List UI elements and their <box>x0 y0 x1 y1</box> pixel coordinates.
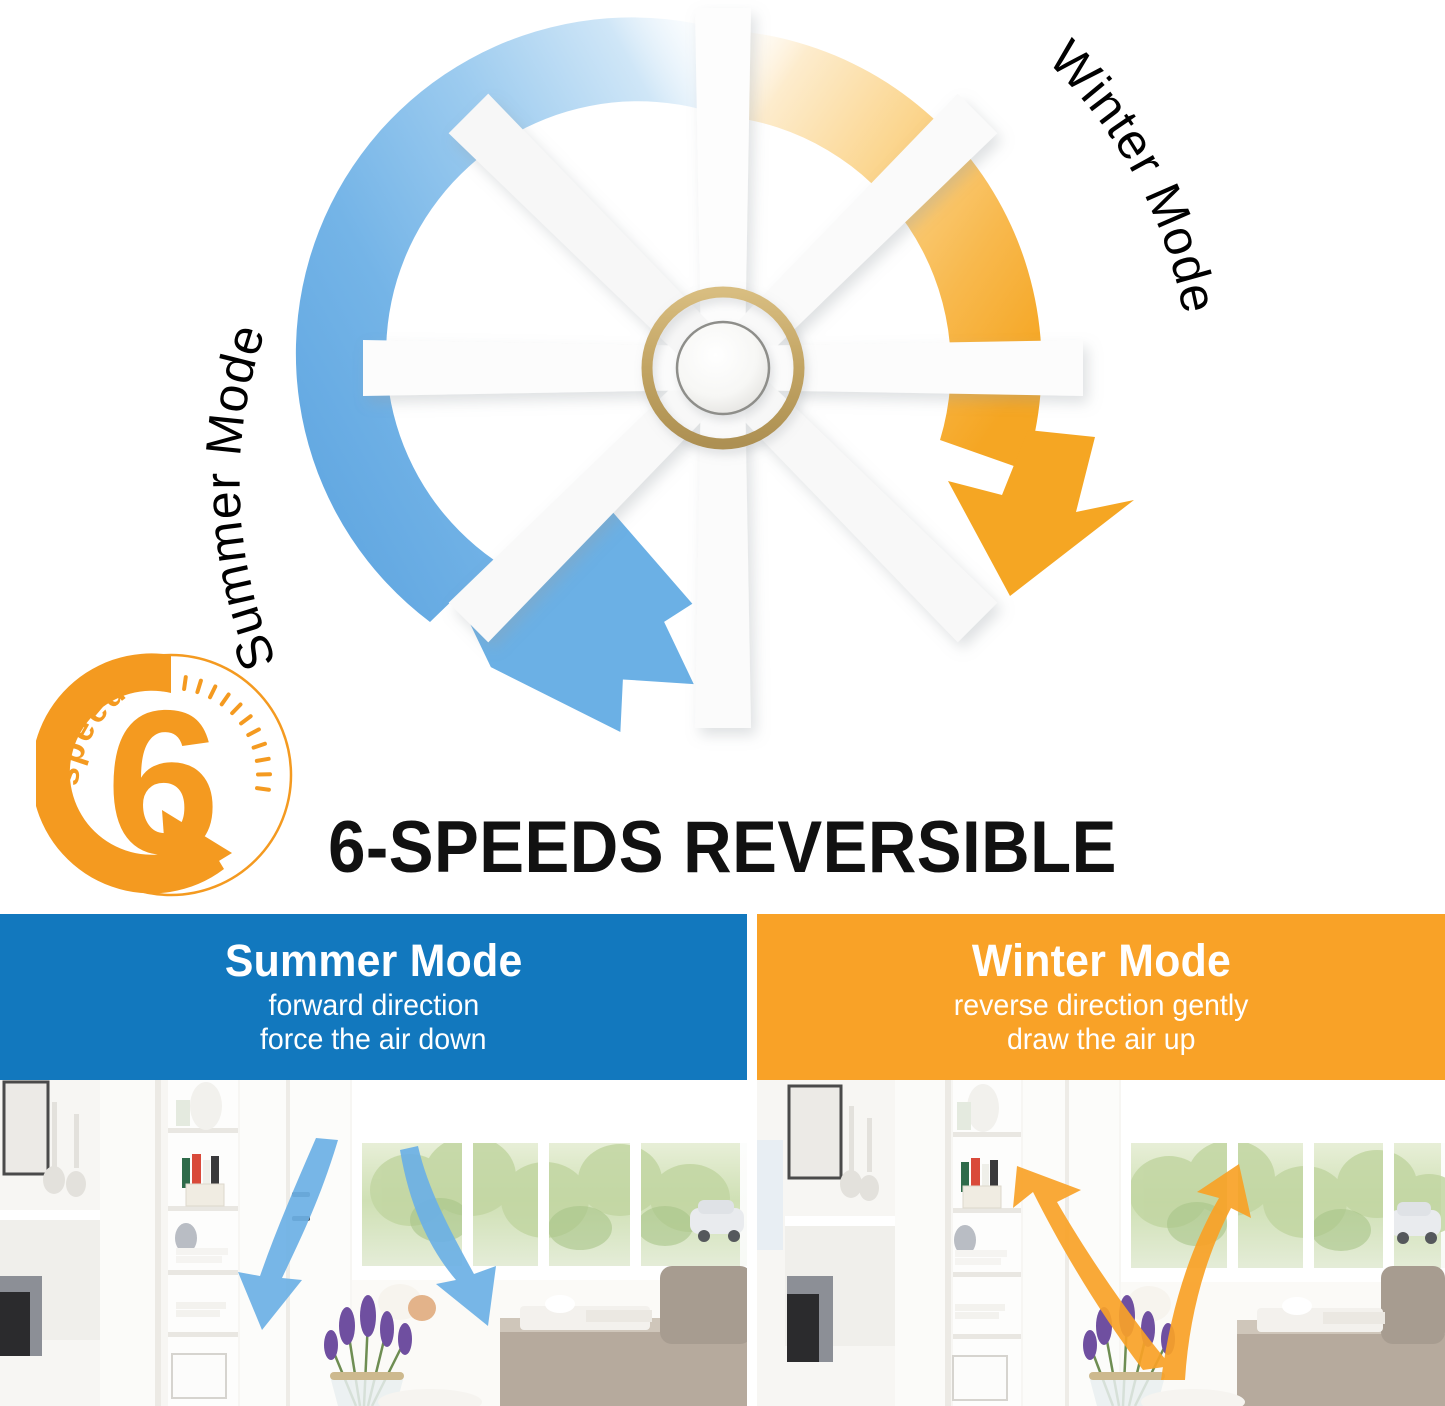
winter-mode-line1: reverse direction gently <box>954 989 1249 1023</box>
winter-mode-arc-label: Winter Mode <box>1039 29 1228 318</box>
summer-mode-line1: forward direction <box>268 989 479 1023</box>
winter-mode-banner: Winter Mode reverse direction gently dra… <box>757 914 1445 1080</box>
page-title: 6-SPEEDS REVERSIBLE <box>58 806 1387 889</box>
fan-hub <box>593 238 853 498</box>
summer-mode-arc-label: Summer Mode <box>195 317 287 678</box>
winter-mode-line2: draw the air up <box>1007 1023 1196 1057</box>
mode-banner-row: Summer Mode forward direction force the … <box>0 914 1445 1080</box>
fan-diagram-hero: Summer Mode Winter Mode 6 <box>0 0 1445 912</box>
airflow-arrows-down <box>0 1080 747 1406</box>
summer-mode-banner: Summer Mode forward direction force the … <box>0 914 747 1080</box>
product-feature-infographic: Summer Mode Winter Mode 6 <box>0 0 1445 1406</box>
svg-text:Summer Mode: Summer Mode <box>195 317 287 678</box>
winter-arc-label-text: Winter Mode <box>1039 29 1228 318</box>
summer-mode-line2: force the air down <box>260 1023 487 1057</box>
summer-arc-label-text: Summer Mode <box>195 317 287 678</box>
photo-row <box>0 1080 1445 1406</box>
airflow-arrows-up <box>757 1080 1445 1406</box>
summer-mode-title: Summer Mode <box>225 938 523 983</box>
winter-mode-title: Winter Mode <box>971 938 1230 983</box>
winter-mode-photo <box>757 1080 1445 1406</box>
summer-mode-photo <box>0 1080 747 1406</box>
svg-text:Winter Mode: Winter Mode <box>1039 29 1228 318</box>
